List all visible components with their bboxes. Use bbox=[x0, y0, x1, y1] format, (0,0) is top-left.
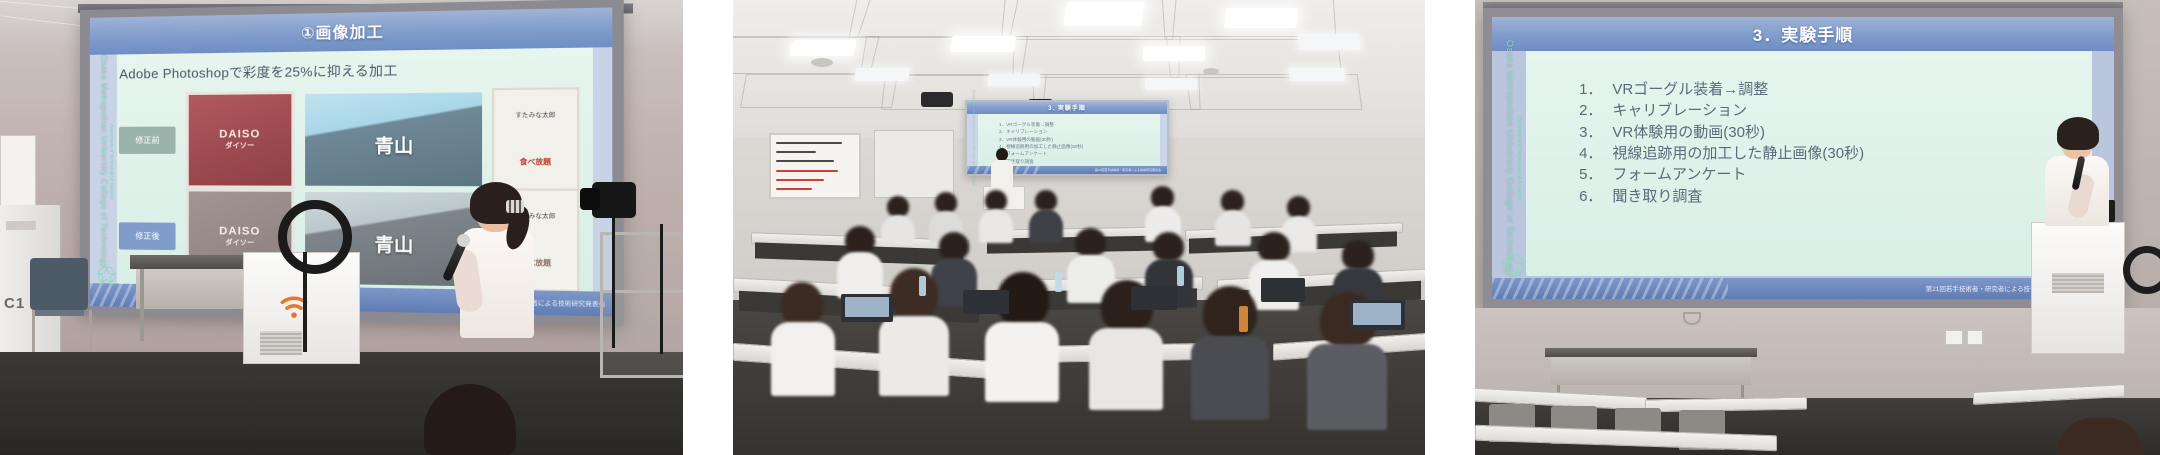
ring-light bbox=[278, 200, 352, 274]
whiteboard-writing-red bbox=[776, 188, 812, 190]
sutamina-text: すたみな太郎 bbox=[515, 110, 555, 120]
whiteboard-writing-red bbox=[776, 170, 838, 172]
audience-head bbox=[1221, 190, 1244, 212]
step-number: 3． bbox=[1579, 122, 1602, 143]
row-label-after: 修正後 bbox=[119, 222, 176, 250]
tabehoudai-text: 食べ放題 bbox=[520, 157, 551, 168]
sidebar-university-text: Osaka Metropolitan University College of… bbox=[1505, 40, 1515, 276]
row-label-before: 修正前 bbox=[119, 127, 176, 154]
audience-member bbox=[1191, 286, 1269, 416]
panel-gap bbox=[1425, 0, 1475, 455]
image-daiso-before: DAISO ダイソー bbox=[186, 91, 295, 189]
water-bottle bbox=[919, 276, 926, 296]
wall-outlet[interactable] bbox=[1967, 330, 1983, 345]
audience-torso bbox=[985, 322, 1059, 402]
panel-presentation-closeup-left: C1 ①画像加工 Osaka Metropolitan University C… bbox=[0, 0, 683, 455]
ceiling-projector bbox=[921, 92, 953, 107]
daiso-logo-text: DAISO bbox=[219, 226, 260, 239]
floor bbox=[0, 352, 683, 455]
ceiling-light bbox=[854, 68, 911, 81]
whiteboard-writing bbox=[776, 160, 834, 162]
slide-footer: 第21回若手技術者・研究者による技術研究発表会 PAGE 14 bbox=[1492, 278, 2114, 299]
slide-step: 2．キャリブレーション bbox=[999, 128, 1159, 135]
wall-whiteboard bbox=[0, 135, 36, 207]
audience-head bbox=[939, 232, 969, 260]
audience-head bbox=[845, 226, 875, 254]
audience-member bbox=[979, 190, 1013, 242]
audience-member bbox=[771, 282, 835, 392]
folding-table-top bbox=[1545, 348, 1757, 357]
projected-slide-3: 3．実験手順 Osaka Metropolitan University Col… bbox=[1492, 17, 2114, 299]
slide-step: 2． キャリブレーション bbox=[1579, 100, 2089, 121]
laptop-screen bbox=[845, 297, 889, 317]
podium-vent bbox=[260, 331, 302, 355]
laptop-screen bbox=[1353, 303, 1401, 325]
slide-step: 6． 聞き取り調査 bbox=[1579, 186, 2089, 207]
audience-member bbox=[1215, 190, 1251, 246]
slide-step: 4． 視線追跡用の加工した静止画像(30秒) bbox=[1579, 143, 2089, 164]
audience-torso bbox=[979, 209, 1013, 243]
slide-step: 5．フォームアンケート bbox=[999, 150, 1159, 157]
ceiling-light bbox=[987, 74, 1040, 86]
water-bottle bbox=[1177, 266, 1184, 286]
sidebar-university-text: Osaka Metropolitan University College of… bbox=[99, 55, 108, 269]
panel-gap bbox=[683, 0, 733, 455]
drink-bottle bbox=[1239, 306, 1248, 332]
audience-torso bbox=[879, 316, 949, 396]
audience-head bbox=[890, 268, 938, 320]
comparison-row-before: 修正前 DAISO ダイソー 青山 すたみな太郎 食べ放題 bbox=[119, 91, 579, 186]
smoke-detector bbox=[811, 58, 833, 67]
slide-title-bar: 3. 実験手順 bbox=[967, 102, 1167, 114]
star-emblem-icon bbox=[97, 265, 117, 285]
projection-screen-frame: 3．実験手順 Osaka Metropolitan University Col… bbox=[1483, 8, 2123, 308]
step-number: 6． bbox=[1579, 186, 1602, 207]
ceiling-light bbox=[1143, 46, 1205, 61]
step-text: フォームアンケート bbox=[1612, 164, 1746, 185]
audience-torso bbox=[1029, 209, 1063, 243]
daiso-sub-text: ダイソー bbox=[225, 141, 254, 151]
audience-torso bbox=[837, 252, 883, 298]
step-text: キャリブレーション bbox=[1612, 100, 1747, 121]
photo-strip: C1 ①画像加工 Osaka Metropolitan University C… bbox=[0, 0, 2160, 455]
audience-head bbox=[1342, 240, 1374, 270]
audience-head bbox=[1035, 190, 1057, 211]
presenter bbox=[452, 188, 542, 338]
cabinet-handle bbox=[6, 221, 36, 230]
hair-clip bbox=[506, 200, 524, 213]
ceiling-light bbox=[1297, 34, 1361, 50]
audience-member bbox=[879, 268, 949, 392]
laptop[interactable] bbox=[963, 290, 1009, 314]
slide-step: 1．VRゴーグル装着→調整 bbox=[999, 121, 1159, 128]
ceiling-light bbox=[1288, 68, 1346, 81]
smoke-detector bbox=[1203, 68, 1219, 75]
slide-step-list: 1．VRゴーグル装着→調整 2．キャリブレーション 3．VR体験用の動画(30秒… bbox=[999, 121, 1159, 166]
step-text: VRゴーグル装着→調整 bbox=[1612, 79, 1768, 100]
audience-member bbox=[837, 226, 883, 296]
presenter bbox=[2041, 122, 2113, 218]
slide-step: 3． VR体験用の動画(30秒) bbox=[1579, 122, 2089, 143]
slide-title-bar: 3．実験手順 bbox=[1492, 17, 2114, 51]
audience-torso bbox=[1089, 328, 1163, 410]
image-sutamina-before: すたみな太郎 食べ放題 bbox=[492, 87, 579, 191]
audience-torso bbox=[881, 215, 915, 245]
slide-step: 6．聞き取り調査 bbox=[999, 158, 1159, 165]
slide-step: 4．視線追跡用の加工した静止画像(30秒) bbox=[999, 143, 1159, 150]
sidebar-department-text: Department of Technological Systems bbox=[109, 124, 114, 200]
slide-step: 5． フォームアンケート bbox=[1579, 164, 2089, 185]
whiteboard-writing-red bbox=[776, 179, 824, 181]
chair-legs bbox=[32, 310, 92, 352]
footer-hatch-decoration bbox=[1492, 278, 1728, 299]
panel-lecture-hall-wide: 3. 実験手順 Osaka Metropolitan University Co… bbox=[733, 0, 1425, 455]
panel-presentation-closeup-right: 3．実験手順 Osaka Metropolitan University Col… bbox=[1475, 0, 2160, 455]
step-number: 4． bbox=[1579, 143, 1602, 164]
audience-head bbox=[1203, 286, 1257, 340]
sidebar-department-text: Department of Technological Systems bbox=[1516, 116, 1522, 200]
whiteboard-writing bbox=[776, 142, 842, 144]
speaker-person bbox=[991, 148, 1013, 188]
ceiling-light bbox=[950, 36, 1017, 52]
double-doors[interactable] bbox=[874, 130, 954, 198]
video-camera bbox=[592, 182, 636, 218]
audience-torso bbox=[771, 322, 835, 396]
audience-head bbox=[1153, 232, 1184, 261]
step-number: 5． bbox=[1579, 164, 1602, 185]
whiteboard-writing bbox=[776, 151, 816, 153]
water-bottle bbox=[1055, 272, 1062, 292]
star-emblem-icon bbox=[1501, 253, 1526, 278]
slide-step: 3．VR体験用の動画(30秒) bbox=[999, 136, 1159, 143]
step-text: VR体験用の動画(30秒) bbox=[1612, 122, 1765, 143]
table-leg bbox=[140, 269, 144, 341]
laptop[interactable] bbox=[1131, 286, 1177, 310]
audience-torso bbox=[1307, 344, 1387, 430]
step-text: 聞き取り調査 bbox=[1612, 186, 1702, 207]
daiso-sub-text: ダイソー bbox=[225, 238, 254, 249]
slide-title: 3．実験手順 bbox=[1753, 21, 1853, 46]
audience-head bbox=[1151, 186, 1174, 208]
audience-head bbox=[887, 196, 909, 217]
audience-head bbox=[1287, 196, 1310, 218]
slide-step-list: 1． VRゴーグル装着→調整 2． キャリブレーション 3． VR体験用の動画(… bbox=[1579, 79, 2089, 207]
ceiling-light bbox=[1145, 78, 1197, 90]
audience-torso bbox=[1191, 336, 1269, 420]
audience-head bbox=[1075, 228, 1106, 257]
image-aoyama-before: 青山 bbox=[305, 92, 482, 186]
audience-member bbox=[881, 196, 915, 244]
stacked-chairs bbox=[30, 258, 88, 310]
wall-outlet[interactable] bbox=[1945, 330, 1963, 345]
slide-step: 1． VRゴーグル装着→調整 bbox=[1579, 79, 2089, 100]
laptop[interactable] bbox=[1261, 278, 1305, 302]
tripod-leg bbox=[612, 218, 615, 348]
daiso-logo-text: DAISO bbox=[219, 129, 260, 141]
slide-sidebar: Osaka Metropolitan University College of… bbox=[96, 38, 118, 287]
cabinet-label: C1 bbox=[4, 295, 25, 312]
speaker-body bbox=[991, 160, 1013, 188]
audience-torso bbox=[1215, 210, 1251, 246]
slide-title: ①画像加工 bbox=[301, 21, 384, 44]
podium-vent bbox=[2052, 273, 2104, 293]
aoyama-sign-text: 青山 bbox=[375, 132, 414, 159]
step-text: 視線追跡用の加工した静止画像(30秒) bbox=[1612, 143, 1864, 164]
podium bbox=[2031, 222, 2125, 354]
ceiling-light bbox=[1063, 2, 1145, 26]
ceiling-light bbox=[1224, 8, 1297, 28]
aoyama-sign-text: 青山 bbox=[375, 231, 414, 259]
step-number: 1． bbox=[1579, 79, 1602, 100]
step-number: 2． bbox=[1579, 100, 1602, 121]
presenter-hair bbox=[2057, 117, 2099, 150]
audience-head bbox=[935, 192, 957, 213]
audience-member bbox=[1029, 190, 1063, 242]
whiteboard bbox=[769, 133, 861, 199]
folding-table-skirt bbox=[1551, 357, 1751, 385]
slide-sidebar: Osaka Metropolitan University College of… bbox=[1499, 37, 1527, 280]
ceiling-tile bbox=[848, 0, 1019, 38]
audience-head bbox=[985, 190, 1007, 211]
footer-event-text: 第21回若手技術者・研究者による技術研究発表会 bbox=[1043, 168, 1167, 172]
slide-title: 3. 実験手順 bbox=[1048, 103, 1086, 112]
audience-head bbox=[781, 282, 823, 326]
tripod-leg bbox=[660, 224, 663, 354]
ceiling-light bbox=[789, 40, 857, 56]
audience-head bbox=[1258, 232, 1290, 262]
ring-light bbox=[2123, 246, 2160, 294]
